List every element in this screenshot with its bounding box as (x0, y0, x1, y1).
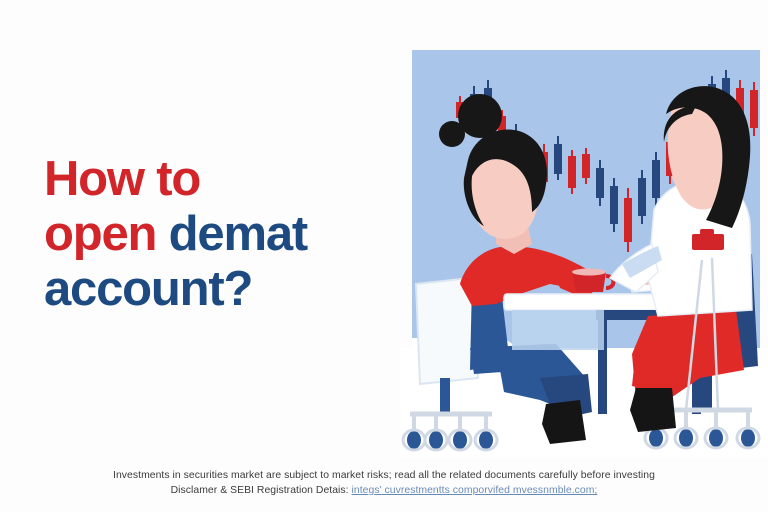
candle (750, 82, 758, 136)
cup-rim (572, 269, 606, 276)
headline-word-open: open (44, 207, 156, 261)
candle (568, 150, 576, 194)
headline-line-3: account? (44, 262, 414, 317)
left-person-shoe (542, 400, 586, 444)
caster (649, 429, 663, 447)
hero-illustration (400, 48, 768, 458)
headline-space (156, 207, 168, 261)
page-title: How to open demat account? (44, 152, 414, 317)
table-shadow (512, 310, 604, 350)
disclaimer-line-2-prefix: Disclamer & SEBI Registration Detais: (171, 485, 352, 496)
caster (479, 431, 493, 449)
disclaimer-line-1: Investments in securities market are sub… (0, 468, 768, 483)
sebi-registration-link[interactable]: integs' cuvrestmentts comporvifed mvessn… (352, 485, 598, 496)
caster (453, 431, 467, 449)
right-person-name-badge (692, 234, 724, 250)
headline-line-2: open demat (44, 207, 414, 262)
candle (638, 170, 646, 224)
candle (610, 178, 618, 232)
headline-word-how-to: How to (44, 152, 200, 206)
headline-word-account: account? (44, 262, 252, 316)
caster (429, 431, 443, 449)
right-person-shoe (630, 388, 676, 432)
left-person-hair-bun-small (439, 121, 465, 147)
disclaimer-block: Investments in securities market are sub… (0, 468, 768, 498)
illustration-svg (400, 48, 768, 458)
headline-word-demat: demat (169, 207, 307, 261)
disclaimer-line-2: Disclamer & SEBI Registration Detais: in… (0, 483, 768, 498)
caster (741, 429, 755, 447)
caster (679, 429, 693, 447)
caster (407, 431, 421, 449)
poster-canvas: How to open demat account? (0, 0, 768, 512)
left-chair-column (440, 378, 450, 414)
badge-clip (700, 229, 714, 235)
headline-line-1: How to (44, 152, 414, 207)
caster (709, 429, 723, 447)
candle (652, 152, 660, 206)
